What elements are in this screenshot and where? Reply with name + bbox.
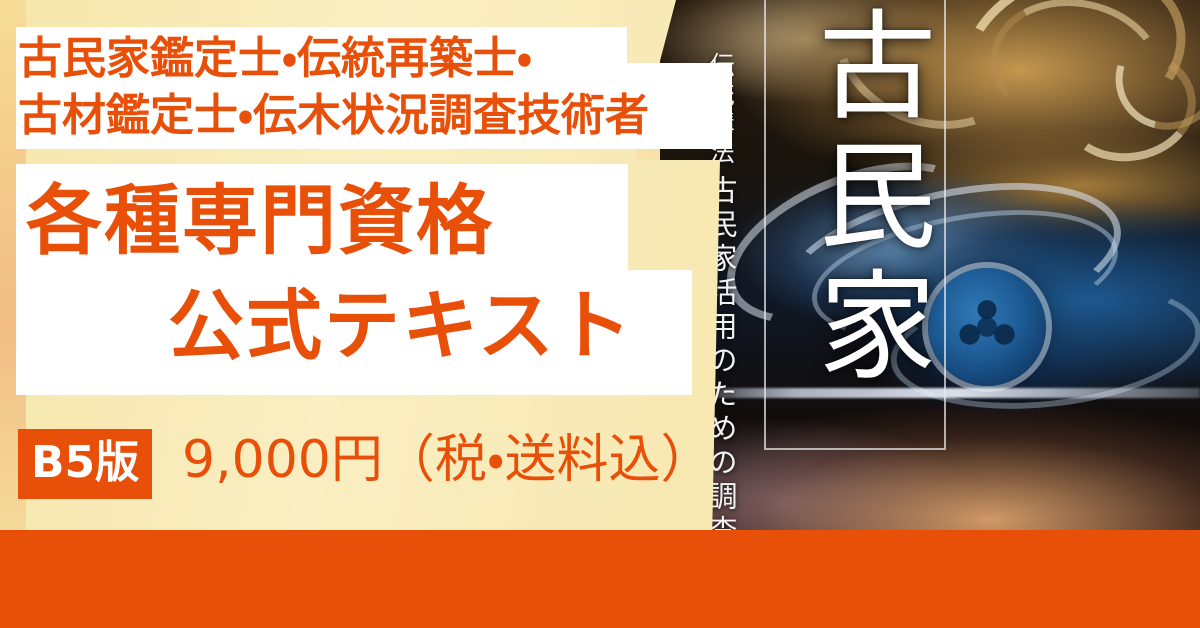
cta-bar[interactable]: 詳細・ご購入はこちら (0, 530, 1200, 628)
headline-line-2: 古材鑑定士・伝木状況調査技術者 (18, 87, 718, 144)
price-text: 9,000円（税・送料込） (182, 434, 713, 486)
title-line-1: 各種専門資格 (26, 183, 494, 259)
promo-banner: 古民家 伝統構法 古民家活用のための調査と再生の 古民家鑑定士・伝統再築士・ 古… (0, 0, 1200, 628)
headline-line-1: 古民家鑑定士・伝統再築士・ (18, 30, 718, 87)
format-badge: B5版 (18, 429, 152, 499)
title-line-2: 公式テキスト (168, 288, 634, 364)
headline-text: 古民家鑑定士・伝統再築士・ 古材鑑定士・伝木状況調査技術者 (18, 30, 718, 144)
book-cover-title: 古民家 (780, 4, 930, 394)
